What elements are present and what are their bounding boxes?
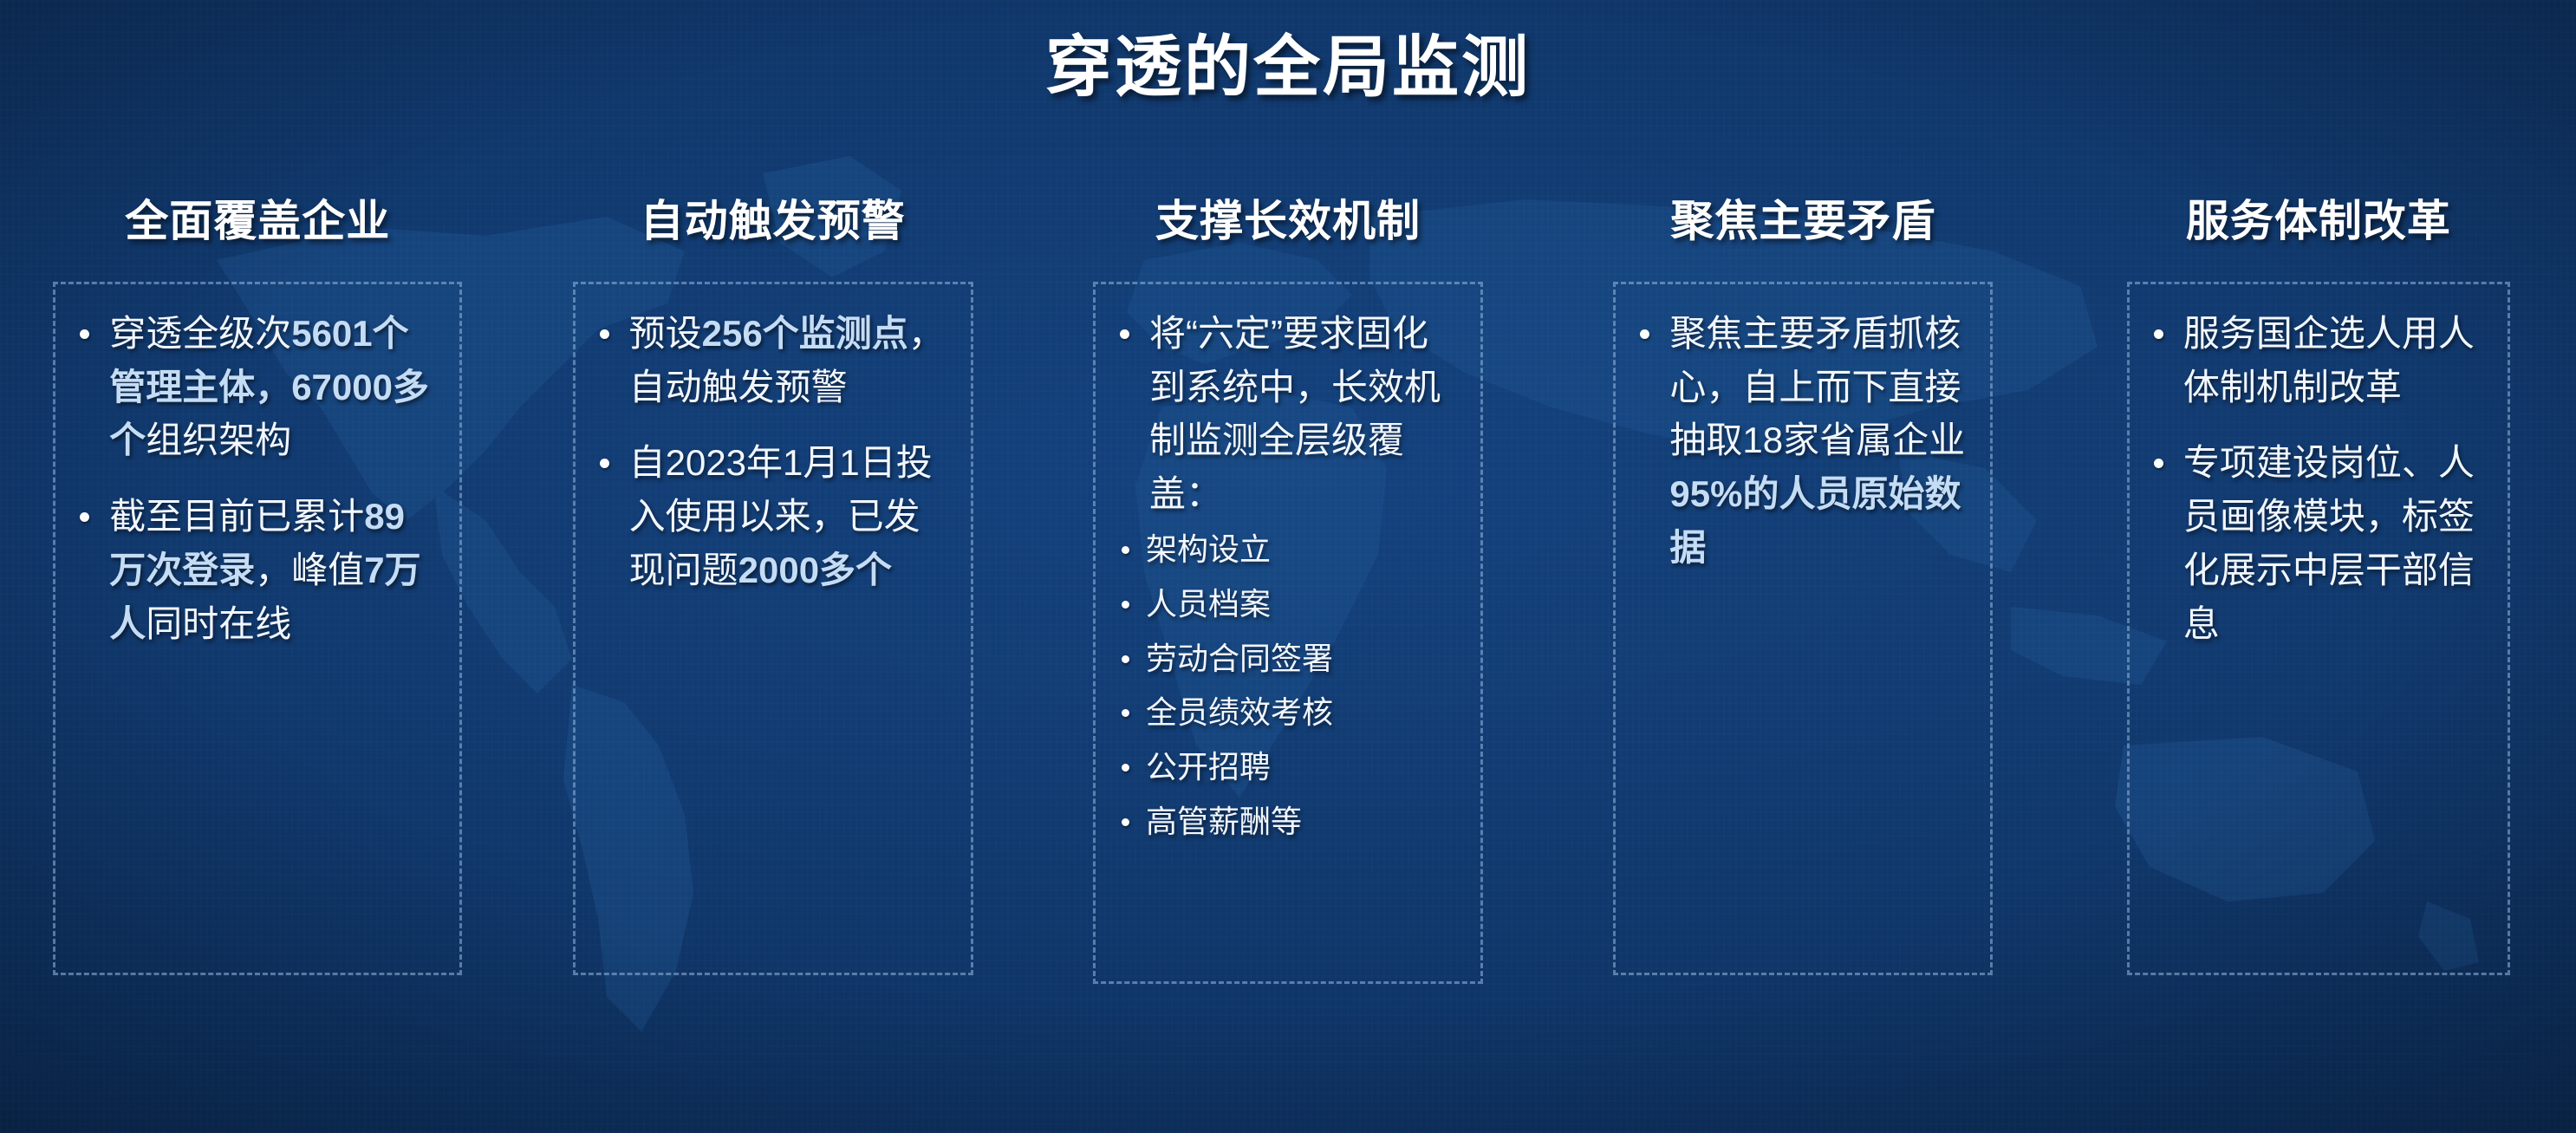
column-heading: 自动触发预警 bbox=[641, 186, 906, 249]
column-content-box: 服务国企选人用人体制机制改革 专项建设岗位、人员画像模块，标签化展示中层干部信息 bbox=[2127, 282, 2510, 975]
bullet-segment: 穿透全级次 bbox=[109, 313, 291, 354]
bullet-segment: 聚焦主要矛盾抓核心，自上而下直接抽取18家省属企业 bbox=[1669, 313, 1965, 460]
list-item: 将“六定”要求固化到系统中，长效机制监测全层级覆盖： bbox=[1108, 307, 1461, 521]
column-content-box: 穿透全级次5601个管理主体，67000多个组织架构 截至目前已累计89万次登录… bbox=[53, 282, 462, 975]
list-item: 全员绩效考核 bbox=[1108, 693, 1461, 733]
bullet-list: 服务国企选人用人体制机制改革 专项建设岗位、人员画像模块，标签化展示中层干部信息 bbox=[2142, 307, 2488, 650]
bullet-segment: ，峰值 bbox=[255, 550, 364, 590]
list-item: 聚焦主要矛盾抓核心，自上而下直接抽取18家省属企业95%的人员原始数据 bbox=[1628, 307, 1971, 575]
list-item: 服务国企选人用人体制机制改革 bbox=[2142, 307, 2488, 413]
list-item: 自2023年1月1日投入使用以来，已发现问题2000多个 bbox=[588, 436, 952, 596]
bullet-segment: 截至目前已累计 bbox=[109, 496, 364, 537]
list-item: 架构设立 bbox=[1108, 530, 1461, 570]
list-item: 穿透全级次5601个管理主体，67000多个组织架构 bbox=[68, 307, 440, 467]
bullet-segment: 组织架构 bbox=[146, 420, 291, 460]
list-item: 截至目前已累计89万次登录，峰值7万人同时在线 bbox=[68, 490, 440, 650]
bullet-segment: 服务国企选人用人体制机制改革 bbox=[2183, 313, 2475, 407]
column-jujiao-zhuyao-maodun: 聚焦主要矛盾 聚焦主要矛盾抓核心，自上而下直接抽取18家省属企业95%的人员原始… bbox=[1545, 186, 2060, 1062]
bullet-segment: 专项建设岗位、人员画像模块，标签化展示中层干部信息 bbox=[2183, 442, 2475, 643]
bullet-list: 穿透全级次5601个管理主体，67000多个组织架构 截至目前已累计89万次登录… bbox=[68, 307, 440, 650]
bullet-list: 聚焦主要矛盾抓核心，自上而下直接抽取18家省属企业95%的人员原始数据 bbox=[1628, 307, 1971, 575]
column-zhicheng-changxiao-jizhi: 支撑长效机制 将“六定”要求固化到系统中，长效机制监测全层级覆盖： 架构设立 人… bbox=[1031, 186, 1545, 1062]
bullet-segment: 将“六定”要求固化到系统中，长效机制监测全层级覆盖： bbox=[1149, 313, 1441, 514]
column-heading: 服务体制改革 bbox=[2186, 186, 2451, 249]
column-content-box: 预设256个监测点，自动触发预警 自2023年1月1日投入使用以来，已发现问题2… bbox=[573, 282, 973, 975]
bullet-segment: 预设 bbox=[629, 313, 702, 354]
list-item: 专项建设岗位、人员画像模块，标签化展示中层干部信息 bbox=[2142, 436, 2488, 650]
list-item: 公开招聘 bbox=[1108, 747, 1461, 788]
list-item: 高管薪酬等 bbox=[1108, 802, 1461, 843]
list-item: 劳动合同签署 bbox=[1108, 639, 1461, 680]
column-fuwu-tizhi-gaige: 服务体制改革 服务国企选人用人体制机制改革 专项建设岗位、人员画像模块，标签化展… bbox=[2061, 186, 2576, 1062]
bullet-list: 预设256个监测点，自动触发预警 自2023年1月1日投入使用以来，已发现问题2… bbox=[588, 307, 952, 597]
bullet-segment-highlight: 95%的人员原始数据 bbox=[1669, 473, 1961, 568]
column-quanmian-fugai-qiye: 全面覆盖企业 穿透全级次5601个管理主体，67000多个组织架构 截至目前已累… bbox=[0, 186, 515, 1062]
column-heading: 聚焦主要矛盾 bbox=[1670, 186, 1935, 249]
bullet-segment-highlight: 256个监测点 bbox=[702, 313, 908, 354]
columns-container: 全面覆盖企业 穿透全级次5601个管理主体，67000多个组织架构 截至目前已累… bbox=[0, 186, 2576, 1062]
bullet-segment-highlight: 2000多个 bbox=[738, 550, 892, 590]
list-item: 人员档案 bbox=[1108, 584, 1461, 625]
bullet-list: 将“六定”要求固化到系统中，长效机制监测全层级覆盖： bbox=[1108, 307, 1461, 521]
column-heading: 支撑长效机制 bbox=[1155, 186, 1421, 249]
slide-root: 穿透的全局监测 全面覆盖企业 穿透全级次5601个管理主体，67000多个组织架… bbox=[0, 0, 2576, 1133]
bullet-segment: 同时在线 bbox=[146, 603, 291, 644]
column-zidong-chufa-yujing: 自动触发预警 预设256个监测点，自动触发预警 自2023年1月1日投入使用以来… bbox=[515, 186, 1030, 1062]
column-heading: 全面覆盖企业 bbox=[125, 186, 390, 249]
sub-bullet-list: 架构设立 人员档案 劳动合同签署 全员绩效考核 公开招聘 高管薪酬等 bbox=[1108, 530, 1461, 843]
column-content-box: 聚焦主要矛盾抓核心，自上而下直接抽取18家省属企业95%的人员原始数据 bbox=[1613, 282, 1993, 975]
column-content-box: 将“六定”要求固化到系统中，长效机制监测全层级覆盖： 架构设立 人员档案 劳动合… bbox=[1093, 282, 1483, 984]
page-title: 穿透的全局监测 bbox=[0, 14, 2576, 110]
list-item: 预设256个监测点，自动触发预警 bbox=[588, 307, 952, 413]
